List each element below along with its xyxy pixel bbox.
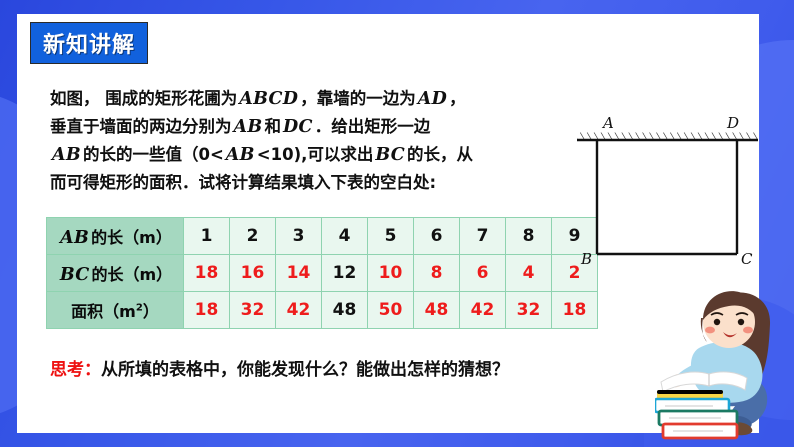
problem-line-2-part-a: 垂直于墙面的两边分别为 <box>50 117 232 136</box>
row-header-ab: AB的长（m） <box>47 218 184 255</box>
cell-bc-8: 4 <box>506 255 552 292</box>
geometry-figure: A D B C <box>575 112 760 277</box>
math-ab-3: AB <box>224 145 257 165</box>
math-ad: AD <box>416 89 449 109</box>
cell-bc-2: 16 <box>230 255 276 292</box>
cell-bc-5: 10 <box>368 255 414 292</box>
rectangle-wall-svg: A D B C <box>575 112 760 277</box>
figure-label-b: B <box>580 250 592 268</box>
girl-reading-illustration <box>655 278 794 447</box>
problem-line-1-part-b: ，靠墙的一边为 <box>300 89 416 108</box>
cell-ab-1: 1 <box>184 218 230 255</box>
cell-ab-6: 6 <box>414 218 460 255</box>
cell-ab-8: 8 <box>506 218 552 255</box>
problem-line-3-part-a: 的长的一些值（0< <box>83 145 224 164</box>
problem-statement: 如图， 围成的矩形花圃为ABCD，靠墙的一边为AD， 垂直于墙面的两边分别为AB… <box>50 85 660 196</box>
row-header-bc-text: 的长（m） <box>91 265 172 284</box>
row-header-area-tail: ） <box>143 302 159 321</box>
problem-line-2-part-b: 和 <box>264 117 281 136</box>
problem-line-3-part-c: 的长，从 <box>407 145 473 164</box>
cell-area-1: 18 <box>184 292 230 329</box>
cell-bc-7: 6 <box>460 255 506 292</box>
slide-root: 新知讲解 如图， 围成的矩形花圃为ABCD，靠墙的一边为AD， 垂直于墙面的两边… <box>0 0 794 447</box>
figure-label-d: D <box>726 114 739 132</box>
figure-label-c: C <box>741 250 753 268</box>
cell-area-4: 48 <box>322 292 368 329</box>
girl-reading-svg <box>655 278 794 447</box>
math-dc: DC <box>281 117 315 137</box>
row-header-bc: BC的长（m） <box>47 255 184 292</box>
cell-ab-4: 4 <box>322 218 368 255</box>
cell-ab-2: 2 <box>230 218 276 255</box>
row-header-ab-text: 的长（m） <box>91 228 172 247</box>
math-ab-2: AB <box>50 145 83 165</box>
cell-area-2: 32 <box>230 292 276 329</box>
cell-ab-3: 3 <box>276 218 322 255</box>
section-title-text: 新知讲解 <box>43 27 135 59</box>
problem-line-3: AB的长的一些值（0<AB<10),可以求出BC的长，从 <box>50 141 660 169</box>
cell-bc-3: 14 <box>276 255 322 292</box>
problem-line-3-part-b: <10),可以求出 <box>257 145 374 164</box>
cell-area-3: 42 <box>276 292 322 329</box>
table-row-bc: BC的长（m） 18 16 14 12 10 8 6 4 2 <box>47 255 598 292</box>
cell-ab-7: 7 <box>460 218 506 255</box>
problem-line-1-part-a: 如图， 围成的矩形花圃为 <box>50 89 237 108</box>
problem-line-1: 如图， 围成的矩形花圃为ABCD，靠墙的一边为AD， <box>50 85 660 113</box>
math-bc-1: BC <box>373 145 407 165</box>
math-abcd: ABCD <box>237 89 300 109</box>
think-question: 从所填的表格中，你能发现什么？能做出怎样的猜想？ <box>101 360 509 380</box>
cell-ab-5: 5 <box>368 218 414 255</box>
row-header-ab-math: AB <box>58 228 91 248</box>
think-keyword: 思考： <box>50 360 101 380</box>
cell-area-9: 18 <box>552 292 598 329</box>
cell-area-7: 42 <box>460 292 506 329</box>
row-header-area-text: 面积（m <box>71 302 136 321</box>
problem-line-2-part-c: ．给出矩形一边 <box>315 117 431 136</box>
row-header-bc-math: BC <box>58 265 92 285</box>
cell-bc-4: 12 <box>322 255 368 292</box>
cell-area-8: 32 <box>506 292 552 329</box>
figure-label-a: A <box>601 114 614 132</box>
row-header-area-sup: 2 <box>136 303 143 314</box>
row-header-area: 面积（m2） <box>47 292 184 329</box>
section-title-chip: 新知讲解 <box>30 22 148 64</box>
cell-area-6: 48 <box>414 292 460 329</box>
math-ab-1: AB <box>232 117 265 137</box>
think-prompt: 思考：从所填的表格中，你能发现什么？能做出怎样的猜想？ <box>50 355 509 380</box>
problem-line-4: 而可得矩形的面积．试将计算结果填入下表的空白处: <box>50 169 660 196</box>
values-table: AB的长（m） 1 2 3 4 5 6 7 8 9 BC的长（m） 18 16 … <box>46 217 598 329</box>
problem-line-1-part-c: ， <box>449 89 466 108</box>
problem-line-2: 垂直于墙面的两边分别为AB和DC．给出矩形一边 <box>50 113 660 141</box>
table-row-ab: AB的长（m） 1 2 3 4 5 6 7 8 9 <box>47 218 598 255</box>
cell-bc-1: 18 <box>184 255 230 292</box>
cell-area-5: 50 <box>368 292 414 329</box>
table-row-area: 面积（m2） 18 32 42 48 50 48 42 32 18 <box>47 292 598 329</box>
cell-bc-6: 8 <box>414 255 460 292</box>
